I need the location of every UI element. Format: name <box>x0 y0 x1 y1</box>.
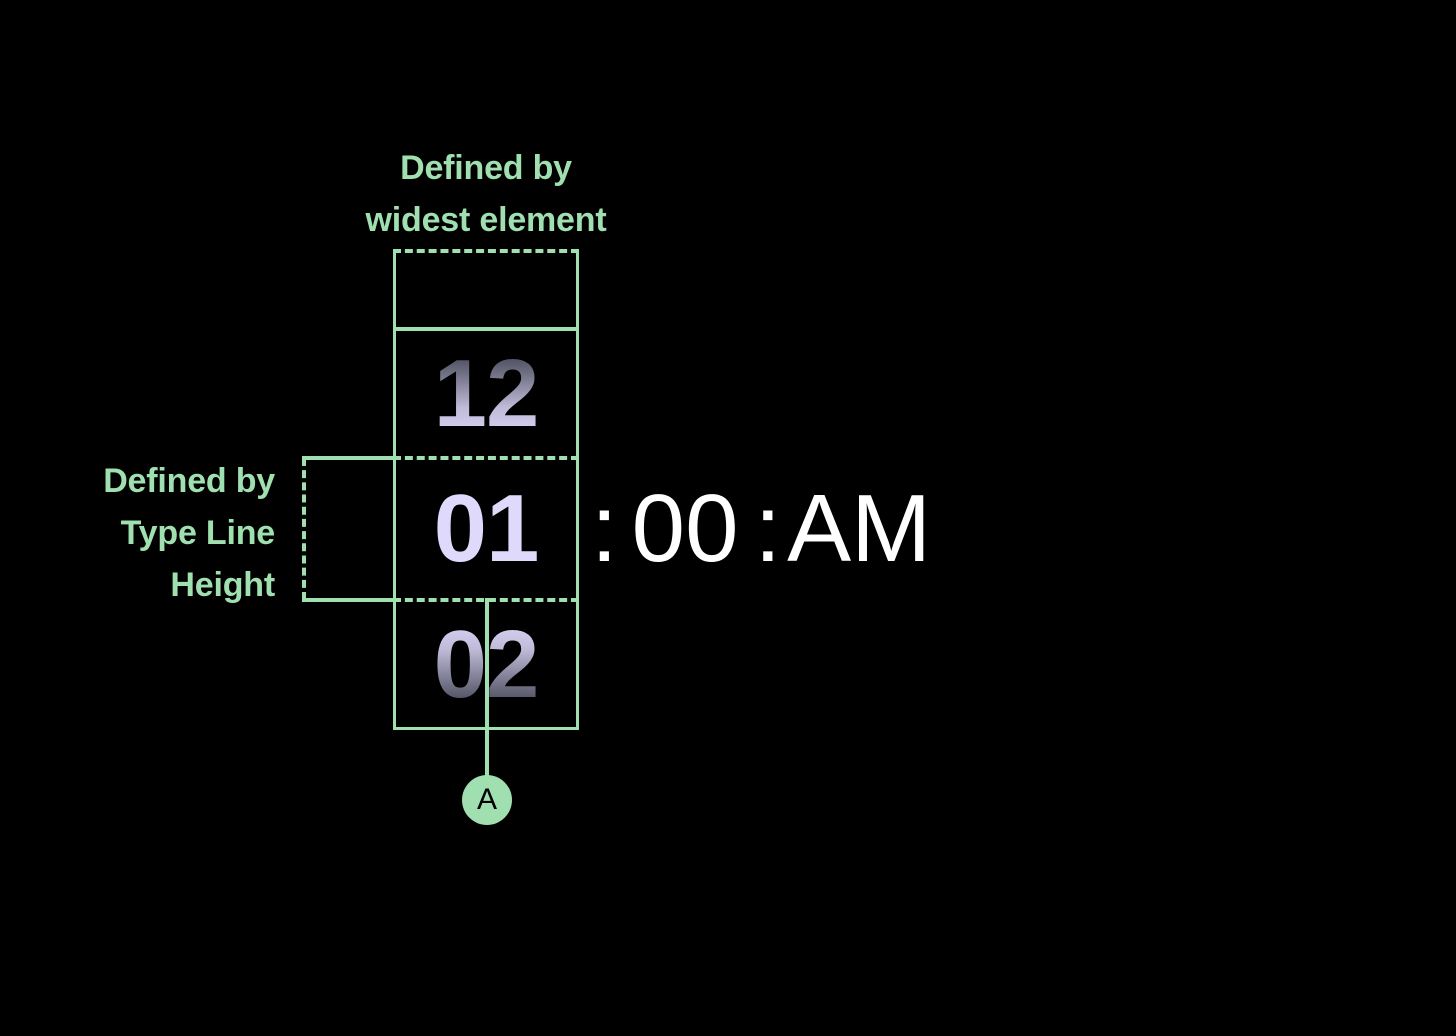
time-readout: : 00 : AM <box>589 458 931 600</box>
hour-option-previous[interactable]: 12 <box>393 329 579 458</box>
annotation-type-line-height: Defined by Type Line Height <box>0 455 275 611</box>
time-separator-minutes-meridiem: : <box>752 481 783 577</box>
guide-dashed-column-top <box>393 249 579 253</box>
hour-option-selected[interactable]: 01 <box>393 458 579 600</box>
hour-option-previous-label: 12 <box>434 346 539 442</box>
bracket-top-rule <box>302 456 395 460</box>
bracket-vertical-dashed-rule <box>302 458 306 600</box>
hour-option-selected-label: 01 <box>434 481 539 577</box>
callout-leader-line <box>485 598 489 776</box>
annotation-widest-element: Defined by widest element <box>206 142 766 246</box>
meridiem-value[interactable]: AM <box>783 481 931 577</box>
diagram-canvas: Defined by widest element Defined by Typ… <box>0 0 1456 1036</box>
minutes-value[interactable]: 00 <box>620 481 753 577</box>
callout-badge-a: A <box>462 775 512 825</box>
bracket-bottom-rule <box>302 598 395 602</box>
time-separator-hours-minutes: : <box>589 481 620 577</box>
